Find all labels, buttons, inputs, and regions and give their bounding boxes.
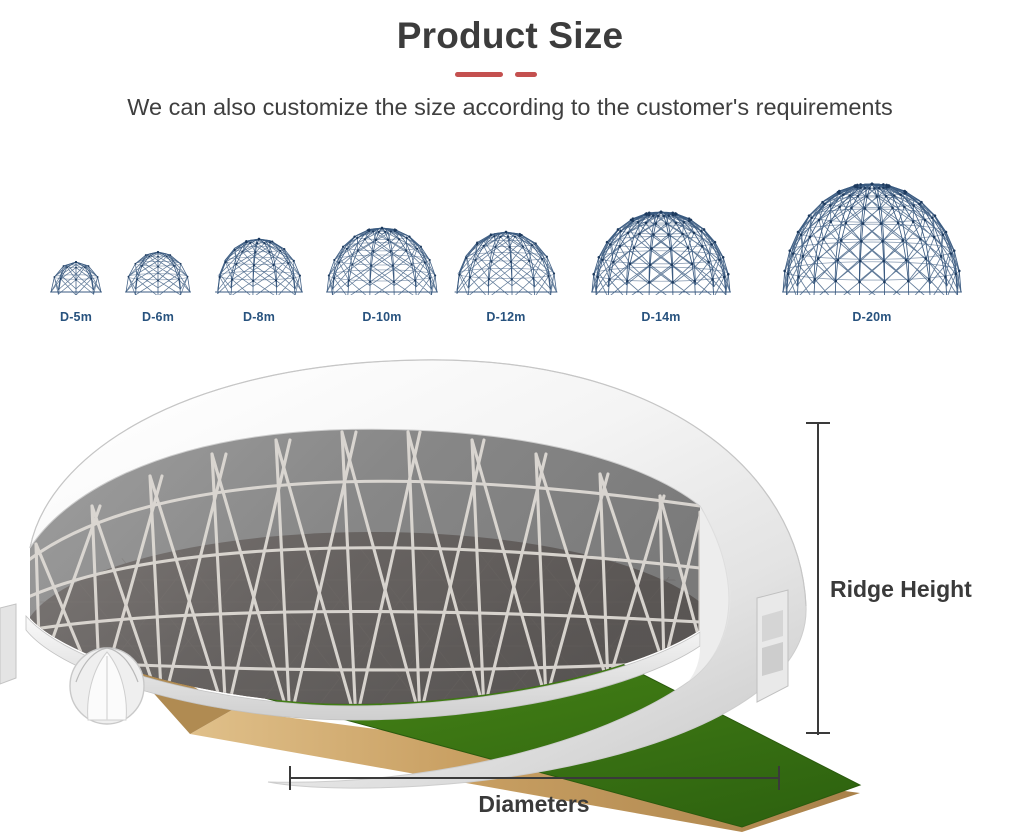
- dome-wireframe-icon: [455, 230, 558, 295]
- dome-wireframe-figure: [591, 210, 731, 300]
- dome-wireframe-figure: [455, 230, 558, 300]
- dome-wireframe-figure: [326, 226, 438, 300]
- dome-size-item[interactable]: D-12m: [436, 160, 576, 330]
- dome-size-item[interactable]: D-8m: [189, 160, 329, 330]
- dome-wireframe-figure: [782, 182, 962, 300]
- dome-size-label: D-6m: [142, 310, 174, 324]
- diameters-dimension-line: [288, 766, 782, 790]
- dome-size-item[interactable]: D-10m: [312, 160, 452, 330]
- ridge-height-dimension-line: [806, 418, 830, 740]
- dome-wireframe-figure: [215, 237, 303, 300]
- ridge-height-label: Ridge Height: [830, 576, 972, 603]
- title-divider: [455, 70, 565, 78]
- dim-cap-bottom: [806, 732, 830, 734]
- entrance-tunnel: [70, 648, 144, 724]
- dome-wireframe-icon: [125, 250, 191, 295]
- dome-size-label: D-10m: [362, 310, 401, 324]
- dome-size-label: D-8m: [243, 310, 275, 324]
- dome-size-label: D-14m: [641, 310, 680, 324]
- dim-cap-right: [778, 766, 780, 790]
- dome-struts: [783, 184, 962, 295]
- divider-bar-short: [515, 72, 537, 77]
- page-subtitle: We can also customize the size according…: [0, 78, 1020, 122]
- divider-bar-long: [455, 72, 503, 77]
- page-header: Product Size We can also customize the s…: [0, 0, 1020, 122]
- side-door-unit-left: [0, 604, 16, 684]
- dome-struts: [455, 232, 557, 295]
- diameters-label-text: Diameters: [478, 791, 589, 817]
- side-door-unit-right: [757, 590, 788, 702]
- dome-size-item[interactable]: D-14m: [591, 160, 731, 330]
- dome-size-item[interactable]: D-20m: [802, 160, 942, 330]
- dome-size-label: D-12m: [486, 310, 525, 324]
- dome-wireframe-icon: [326, 226, 438, 295]
- dome-struts: [126, 252, 191, 295]
- door-unit-body: [0, 604, 16, 684]
- dim-stem: [290, 777, 780, 779]
- dome-size-label: D-20m: [852, 310, 891, 324]
- dome-struts: [216, 239, 303, 295]
- dome-wireframe-icon: [591, 210, 731, 295]
- page-title: Product Size: [0, 0, 1020, 60]
- dome-struts: [592, 212, 731, 295]
- dim-stem: [817, 423, 819, 735]
- dome-wireframe-figure: [125, 250, 191, 300]
- diameters-label: Diameters: [0, 791, 1020, 818]
- dome-wireframe-icon: [215, 237, 303, 295]
- dome-size-comparison-row: D-5mD-6mD-8mD-10mD-12mD-14mD-20m: [0, 160, 1020, 330]
- dome-struts: [327, 228, 438, 295]
- dome-wireframe-icon: [782, 182, 962, 295]
